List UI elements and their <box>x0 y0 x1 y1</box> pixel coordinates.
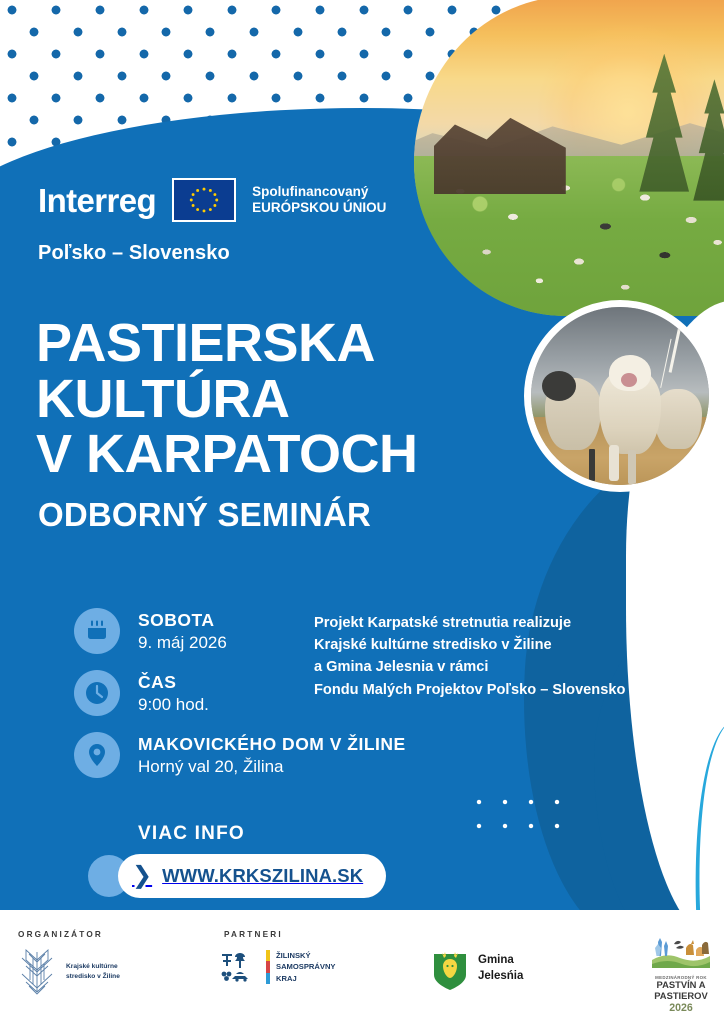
interreg-wordmark: Interreg <box>38 184 156 217</box>
mountain-pasture-photo <box>414 0 724 316</box>
more-info-label: VIAC INFO <box>138 823 245 845</box>
detail-text-location: MAKOVICKÉHO DOM V ŽILINE Horný val 20, Ž… <box>138 734 406 777</box>
organizer-name: Krajské kultúrne stredisko v Žiline <box>66 962 120 982</box>
partner-logo-pastviny-2026: MEDZINÁRODNÝ ROK PASTVÍN A PASTIEROV 202… <box>650 936 712 1014</box>
detail-title-date: SOBOTA <box>138 610 227 631</box>
poster-root: Interreg Spoluf <box>0 0 724 1024</box>
detail-title-time: ČAS <box>138 672 209 693</box>
detail-value-location: Horný val 20, Žilina <box>138 757 406 777</box>
detail-text-date: SOBOTA 9. máj 2026 <box>138 610 227 653</box>
title-line-1: PASTIERSKA <box>36 316 418 372</box>
zsk-line2: SAMOSPRÁVNY <box>276 961 336 972</box>
zsk-line1: ŽILINSKÝ <box>276 950 336 961</box>
pastviny-line2: PASTVÍN A <box>650 980 712 991</box>
zsk-symbols-logo <box>218 950 260 984</box>
footer: ORGANIZÁTOR PARTNERI Krajské kult <box>0 910 724 1024</box>
pastviny-pastierov-2026-logo <box>652 936 710 968</box>
eu-text-line2: EURÓPSKOU ÚNIOU <box>252 200 386 216</box>
website-url-text: WWW.KRKSZILINA.SK <box>162 865 363 887</box>
circle-photo-sheep-legs <box>609 445 619 481</box>
partners-label: PARTNERI <box>224 930 283 939</box>
location-pin-icon <box>74 732 120 778</box>
project-line-3: a Gmina Jelesnia v rámci <box>314 656 625 678</box>
eu-cofunding-text: Spolufinancovaný EURÓPSKOU ÚNIOU <box>252 184 386 215</box>
detail-text-time: ČAS 9:00 hod. <box>138 672 209 715</box>
organizer-logo-kks: Krajské kultúrne stredisko v Žiline <box>16 946 120 998</box>
partner-logo-gmina-jelesnia: Gmina Jelesńia <box>432 946 523 992</box>
project-line-1: Projekt Karpatské stretnutia realizuje <box>314 612 625 634</box>
pastviny-year: 2026 <box>650 1002 712 1014</box>
organizer-name-line1: Krajské kultúrne <box>66 962 120 972</box>
title-line-2: KULTÚRA <box>36 372 418 428</box>
partner-name-gmina: Gmina Jelesńia <box>478 953 523 984</box>
organizer-label: ORGANIZÁTOR <box>18 930 103 939</box>
pastviny-line3: PASTIEROV <box>650 991 712 1002</box>
detail-value-date: 9. máj 2026 <box>138 633 227 653</box>
partner-logo-zsk: ŽILINSKÝ SAMOSPRÁVNY KRAJ <box>218 950 336 984</box>
title-line-3: V KARPATOCH <box>36 427 418 483</box>
website-link-button[interactable]: ❯ WWW.KRKSZILINA.SK <box>118 854 386 898</box>
project-description: Projekt Karpatské stretnutia realizuje K… <box>314 612 625 701</box>
sheep-flock-circle-photo <box>524 300 716 492</box>
circle-photo-sheep-left <box>545 378 601 450</box>
zsk-line3: KRAJ <box>276 973 336 984</box>
kks-ornament-logo <box>16 946 58 998</box>
calendar-icon <box>74 608 120 654</box>
detail-row-location: MAKOVICKÉHO DOM V ŽILINE Horný val 20, Ž… <box>74 732 406 778</box>
programme-name: Poľsko – Slovensko <box>38 242 230 265</box>
clock-icon <box>74 670 120 716</box>
organizer-name-line2: stredisko v Žiline <box>66 972 120 982</box>
chevron-right-icon: ❯ <box>132 864 152 888</box>
page-title: PASTIERSKA KULTÚRA V KARPATOCH <box>36 316 418 483</box>
circle-photo-sheep-right <box>654 389 702 449</box>
interreg-logo-lockup: Interreg Spoluf <box>38 178 386 222</box>
small-dot-pattern <box>466 790 578 846</box>
eu-flag-icon <box>172 178 236 222</box>
detail-title-location: MAKOVICKÉHO DOM V ŽILINE <box>138 734 406 755</box>
detail-value-time: 9:00 hod. <box>138 695 209 715</box>
gmina-line1: Gmina <box>478 953 523 969</box>
project-line-2: Krajské kultúrne stredisko v Žiline <box>314 634 625 656</box>
circle-photo-sheep-front <box>599 368 661 454</box>
partner-name-zsk: ŽILINSKÝ SAMOSPRÁVNY KRAJ <box>276 950 336 984</box>
zsk-color-bars <box>266 950 270 984</box>
gmina-line2: Jelesńia <box>478 969 523 985</box>
page-subtitle: ODBORNÝ SEMINÁR <box>38 496 371 534</box>
gmina-jelesnia-deer-shield <box>432 946 468 992</box>
eu-text-line1: Spolufinancovaný <box>252 184 386 200</box>
project-line-4: Fondu Malých Projektov Poľsko – Slovensk… <box>314 679 625 701</box>
